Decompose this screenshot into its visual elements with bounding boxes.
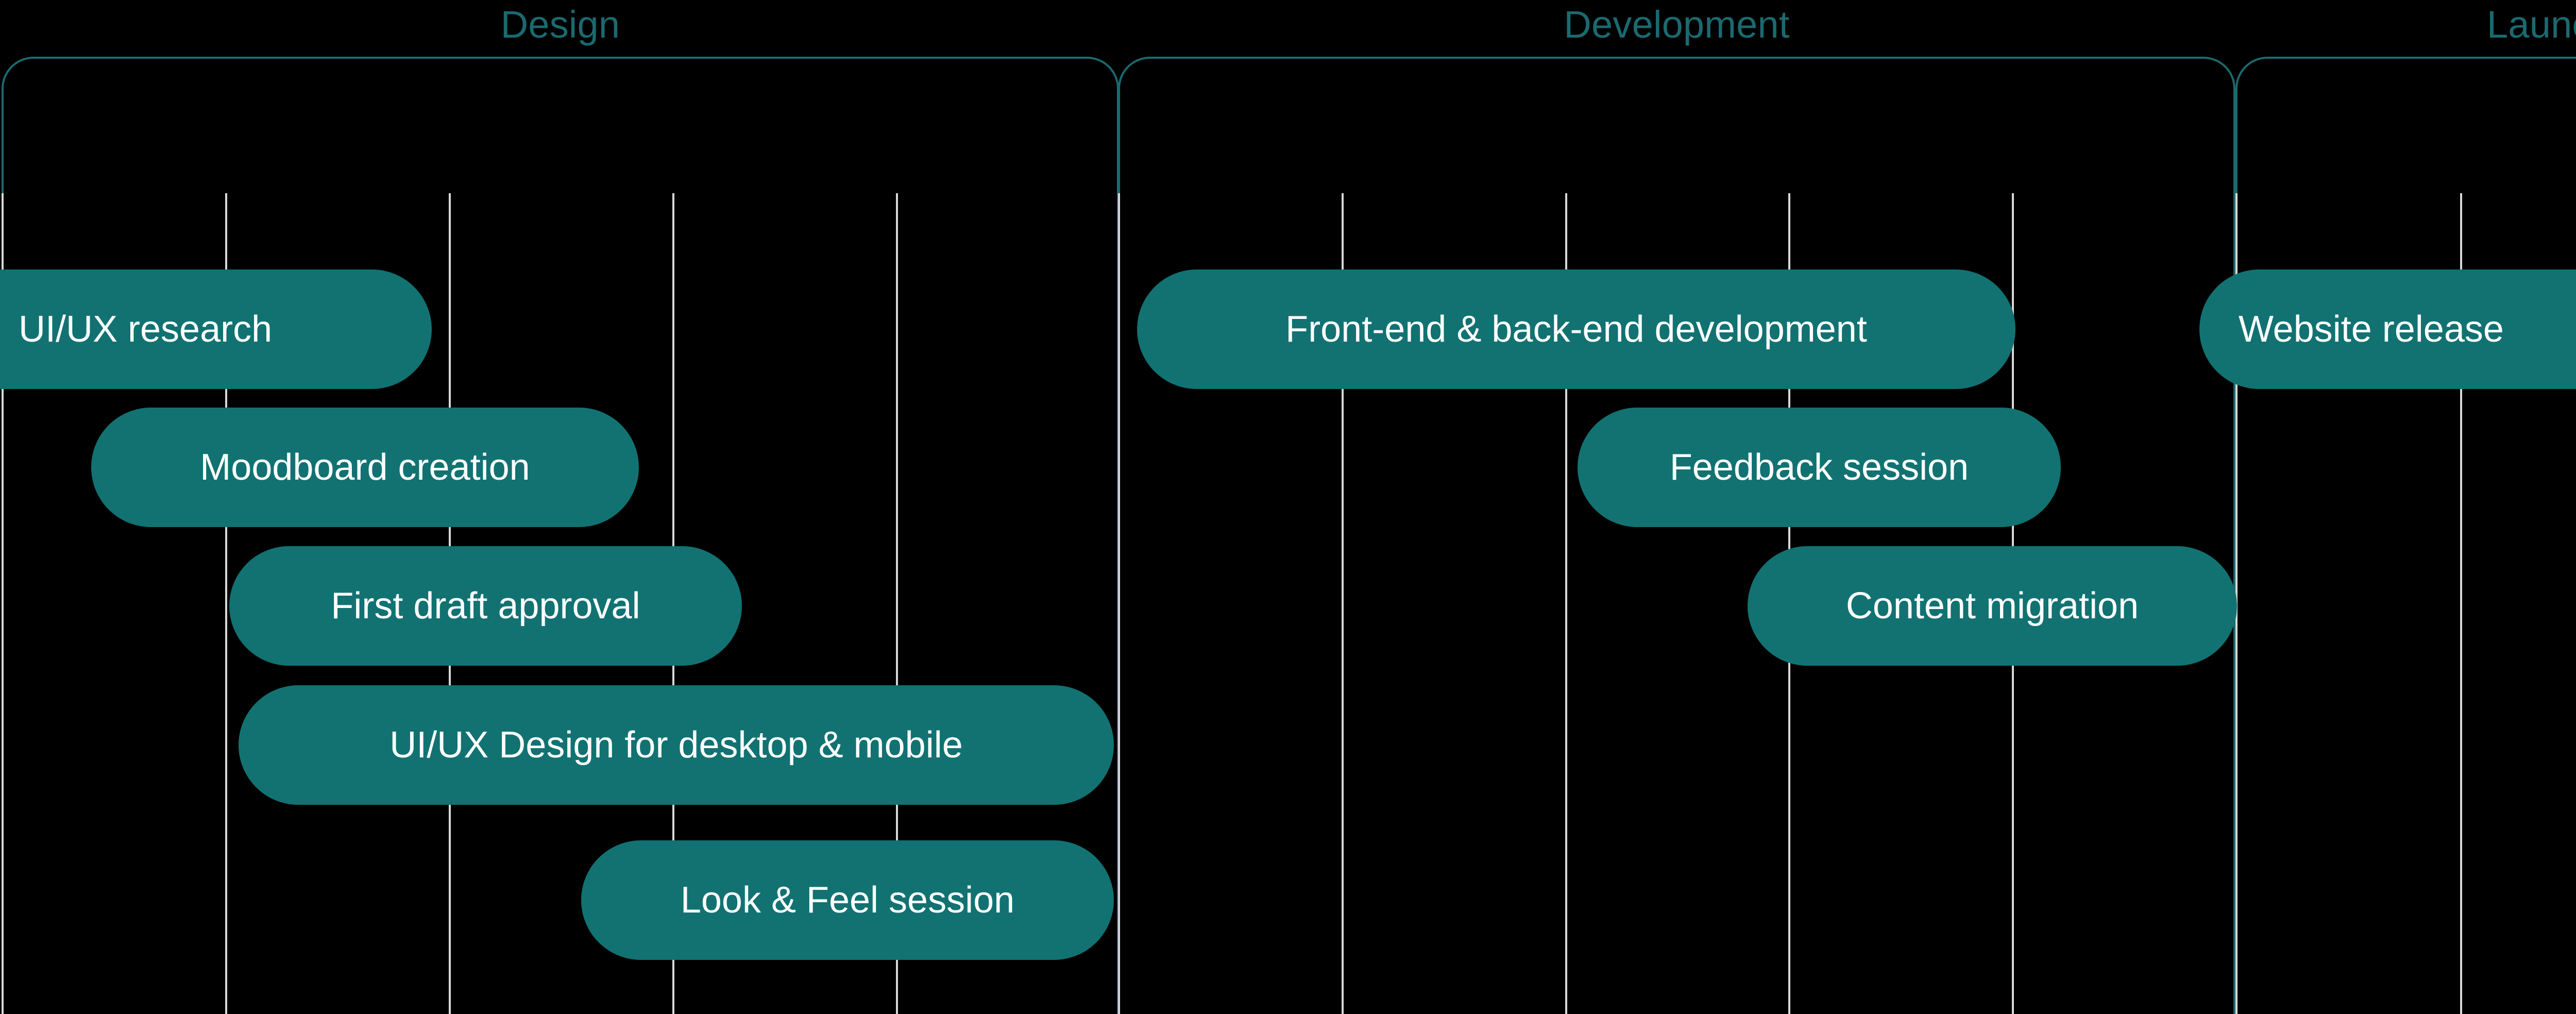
task-first-draft-approval[interactable]: First draft approval [229,546,742,666]
task-bar-label: Website release [2199,311,2576,348]
task-bar-label: Feedback session [1578,449,2061,486]
task-look-and-feel-session[interactable]: Look & Feel session [581,840,1114,960]
task-uiux-design-desktop-mobile[interactable]: UI/UX Design for desktop & mobile [239,685,1114,805]
task-bar-label: Front-end & back-end development [1137,311,2015,348]
task-bar-label: Content migration [1748,587,2237,624]
phase-bracket-launch [2235,57,2576,1014]
task-ui-ux-research[interactable]: UI/UX research [0,269,432,389]
task-bar-label: Look & Feel session [581,882,1114,919]
task-content-migration[interactable]: Content migration [1748,546,2237,666]
task-bar-label: UI/UX Design for desktop & mobile [239,726,1114,764]
gridline-5 [1118,193,1120,1014]
task-website-release[interactable]: Website release [2199,269,2576,389]
task-bar-label: First draft approval [229,587,742,624]
task-moodboard-creation[interactable]: Moodboard creation [91,408,639,527]
phase-bracket-development [1118,57,2235,1014]
task-front-end-back-end-development[interactable]: Front-end & back-end development [1137,269,2015,389]
phase-label-development: Development [1118,0,2235,49]
gantt-timeline-canvas: DesignDevelopmentLaunch UI/UX researchMo… [0,0,2576,1014]
task-bar-label: Moodboard creation [91,449,639,486]
task-bar-label: UI/UX research [0,311,432,348]
task-feedback-session[interactable]: Feedback session [1578,408,2061,527]
phase-label-design: Design [2,0,1119,49]
phase-label-launch: Launch [2235,0,2576,49]
